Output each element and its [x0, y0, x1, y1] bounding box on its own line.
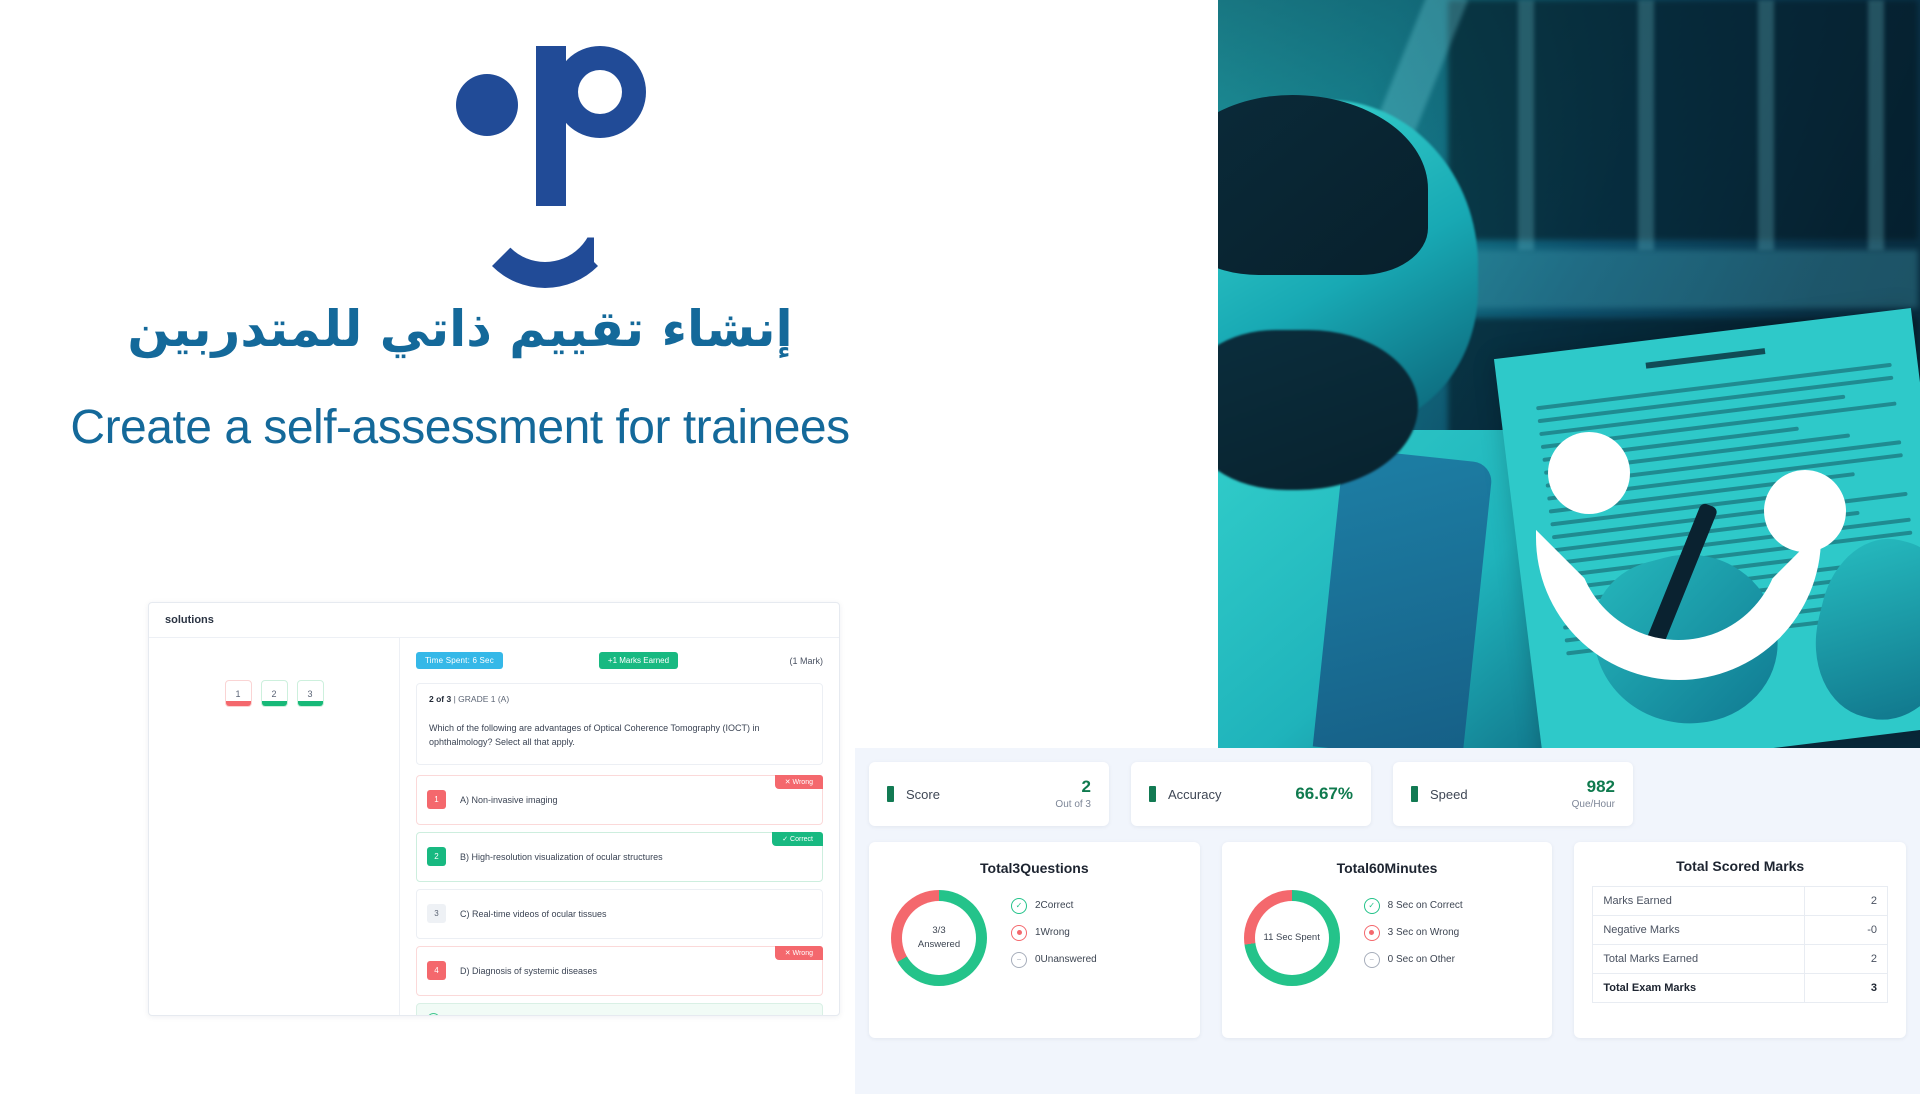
- marks-table: Marks Earned 2 Negative Marks -0 Total M…: [1592, 886, 1888, 1003]
- option-status-badge: ✕ Wrong: [775, 946, 823, 960]
- answer-option-2[interactable]: 2 B) High-resolution visualization of oc…: [416, 832, 823, 882]
- total-scored-marks-card: Total Scored Marks Marks Earned 2 Negati…: [1574, 842, 1906, 1038]
- check-circle-icon: ✓: [1364, 898, 1380, 914]
- stat-value: 2: [1055, 778, 1091, 797]
- question-chip-label: 2: [271, 689, 276, 699]
- question-chip-label: 1: [235, 689, 240, 699]
- charts-row: Total3Questions 3/3 Answered ✓ 2Correct: [855, 826, 1920, 1038]
- stat-label: Speed: [1430, 787, 1468, 802]
- results-dashboard: Score 2 Out of 3 Accuracy 66.67% Speed 9…: [855, 748, 1920, 1094]
- answer-options-list: 1 A) Non-invasive imaging ✕ Wrong 2 B) H…: [416, 775, 823, 996]
- question-meta: 2 of 3 | GRADE 1 (A): [429, 694, 810, 704]
- logo-dot-icon: [456, 74, 518, 136]
- table-row-total: Total Exam Marks 3: [1593, 974, 1888, 1003]
- time-spent-badge: Time Spent: 6 Sec: [416, 652, 503, 669]
- mark-value-label: (1 Mark): [790, 656, 824, 666]
- option-text: D) Diagnosis of systemic diseases: [460, 966, 597, 976]
- donut-center-line1: 11 Sec Spent: [1264, 931, 1320, 945]
- heading-english: Create a self-assessment for trainees: [0, 400, 920, 455]
- stat-card-accuracy: Accuracy 66.67%: [1131, 762, 1371, 826]
- option-number: 3: [427, 904, 446, 923]
- donut-center-line1: 3/3: [932, 924, 945, 938]
- accent-bar-icon: [1411, 786, 1418, 802]
- row-label: Negative Marks: [1593, 916, 1805, 945]
- legend-item-correct: ✓ 2Correct: [1011, 898, 1097, 914]
- questions-donut-title: Total3Questions: [869, 860, 1200, 876]
- row-label: Marks Earned: [1593, 887, 1805, 916]
- question-separator: |: [454, 694, 456, 704]
- legend-item-wrong: 1Wrong: [1011, 925, 1097, 941]
- stat-sublabel: Que/Hour: [1572, 799, 1615, 810]
- option-status-badge: ✓ Correct: [772, 832, 823, 846]
- dot-circle-icon: [1364, 925, 1380, 941]
- accent-bar-icon: [1149, 786, 1156, 802]
- question-navigator: 1 2 3: [149, 638, 400, 1016]
- marks-table-title: Total Scored Marks: [1592, 858, 1888, 874]
- solutions-header: solutions: [149, 603, 839, 638]
- legend-item-correct: ✓ 8 Sec on Correct: [1364, 898, 1463, 914]
- solutions-panel: solutions 1 2 3 Time Spent: 6: [148, 602, 840, 1016]
- question-index: 2 of 3: [429, 694, 451, 704]
- correct-answer-text: Correct answers are Option 2, 3: [447, 1014, 567, 1016]
- solutions-title: solutions: [165, 614, 214, 626]
- legend-item-other: − 0 Sec on Other: [1364, 952, 1463, 968]
- marks-earned-badge: +1 Marks Earned: [599, 652, 678, 669]
- logo-letter-p-icon: [536, 46, 646, 206]
- option-number: 2: [427, 847, 446, 866]
- table-row: Negative Marks -0: [1593, 916, 1888, 945]
- check-circle-icon: ✓: [1011, 898, 1027, 914]
- question-detail: Time Spent: 6 Sec +1 Marks Earned (1 Mar…: [400, 638, 839, 1016]
- time-donut-chart: 11 Sec Spent: [1244, 890, 1340, 986]
- slide-canvas: إنشاء تقييم ذاتي للمتدربين Create a self…: [0, 0, 1920, 1080]
- time-donut-legend: ✓ 8 Sec on Correct 3 Sec on Wrong − 0 Se…: [1364, 898, 1463, 979]
- stat-card-score: Score 2 Out of 3: [869, 762, 1109, 826]
- row-value: 2: [1805, 887, 1888, 916]
- row-value: 2: [1805, 945, 1888, 974]
- question-grade: GRADE 1 (A): [458, 694, 509, 704]
- table-row: Total Marks Earned 2: [1593, 945, 1888, 974]
- option-text: C) Real-time videos of ocular tissues: [460, 909, 607, 919]
- row-label: Total Exam Marks: [1593, 974, 1805, 1003]
- option-text: A) Non-invasive imaging: [460, 795, 558, 805]
- logo-smile-icon: [470, 210, 620, 288]
- questions-donut-legend: ✓ 2Correct 1Wrong − 0Unanswered: [1011, 898, 1097, 979]
- legend-label: 3 Sec on Wrong: [1388, 927, 1460, 938]
- legend-label: 8 Sec on Correct: [1388, 900, 1463, 911]
- smiley-eye-left-icon: [1548, 432, 1630, 514]
- option-number: 4: [427, 961, 446, 980]
- minus-circle-icon: −: [1011, 952, 1027, 968]
- question-text: Which of the following are advantages of…: [429, 722, 810, 750]
- time-donut-title: Total60Minutes: [1222, 860, 1553, 876]
- questions-donut-card: Total3Questions 3/3 Answered ✓ 2Correct: [869, 842, 1200, 1038]
- time-donut-card: Total60Minutes 11 Sec Spent ✓ 8 Sec on C…: [1222, 842, 1553, 1038]
- stat-card-speed: Speed 982 Que/Hour: [1393, 762, 1633, 826]
- minus-circle-icon: −: [1364, 952, 1380, 968]
- brand-logo: [452, 28, 652, 248]
- row-label: Total Marks Earned: [1593, 945, 1805, 974]
- stat-sublabel: Out of 3: [1055, 799, 1091, 810]
- legend-label: 0 Sec on Other: [1388, 954, 1455, 965]
- stat-value: 66.67%: [1295, 785, 1353, 804]
- row-value: 3: [1805, 974, 1888, 1003]
- question-chip-3[interactable]: 3: [297, 680, 324, 707]
- option-status-badge: ✕ Wrong: [775, 775, 823, 789]
- accent-bar-icon: [887, 786, 894, 802]
- donut-center-line2: Answered: [918, 938, 960, 952]
- stat-label: Score: [906, 787, 940, 802]
- row-value: -0: [1805, 916, 1888, 945]
- question-chip-1[interactable]: 1: [225, 680, 252, 707]
- dot-circle-icon: [1011, 925, 1027, 941]
- stat-cards-row: Score 2 Out of 3 Accuracy 66.67% Speed 9…: [855, 762, 1920, 826]
- legend-item-wrong: 3 Sec on Wrong: [1364, 925, 1463, 941]
- heading-arabic: إنشاء تقييم ذاتي للمتدربين: [0, 300, 920, 358]
- stat-label: Accuracy: [1168, 787, 1221, 802]
- answer-option-4[interactable]: 4 D) Diagnosis of systemic diseases ✕ Wr…: [416, 946, 823, 996]
- legend-item-unanswered: − 0Unanswered: [1011, 952, 1097, 968]
- stat-value: 982: [1572, 778, 1615, 797]
- questions-donut-chart: 3/3 Answered: [891, 890, 987, 986]
- option-text: B) High-resolution visualization of ocul…: [460, 852, 663, 862]
- check-circle-icon: ✓: [427, 1013, 440, 1016]
- hero-photo: [1218, 0, 1920, 748]
- question-chip-label: 3: [307, 689, 312, 699]
- answer-option-1[interactable]: 1 A) Non-invasive imaging ✕ Wrong: [416, 775, 823, 825]
- question-badges: Time Spent: 6 Sec +1 Marks Earned (1 Mar…: [416, 652, 823, 669]
- option-number: 1: [427, 790, 446, 809]
- question-chip-2[interactable]: 2: [261, 680, 288, 707]
- legend-label: 2Correct: [1035, 900, 1073, 911]
- question-card: 2 of 3 | GRADE 1 (A) Which of the follow…: [416, 683, 823, 765]
- table-row: Marks Earned 2: [1593, 887, 1888, 916]
- legend-label: 0Unanswered: [1035, 954, 1097, 965]
- answer-option-3[interactable]: 3 C) Real-time videos of ocular tissues: [416, 889, 823, 939]
- correct-answer-note: ✓ Correct answers are Option 2, 3: [416, 1003, 823, 1016]
- legend-label: 1Wrong: [1035, 927, 1070, 938]
